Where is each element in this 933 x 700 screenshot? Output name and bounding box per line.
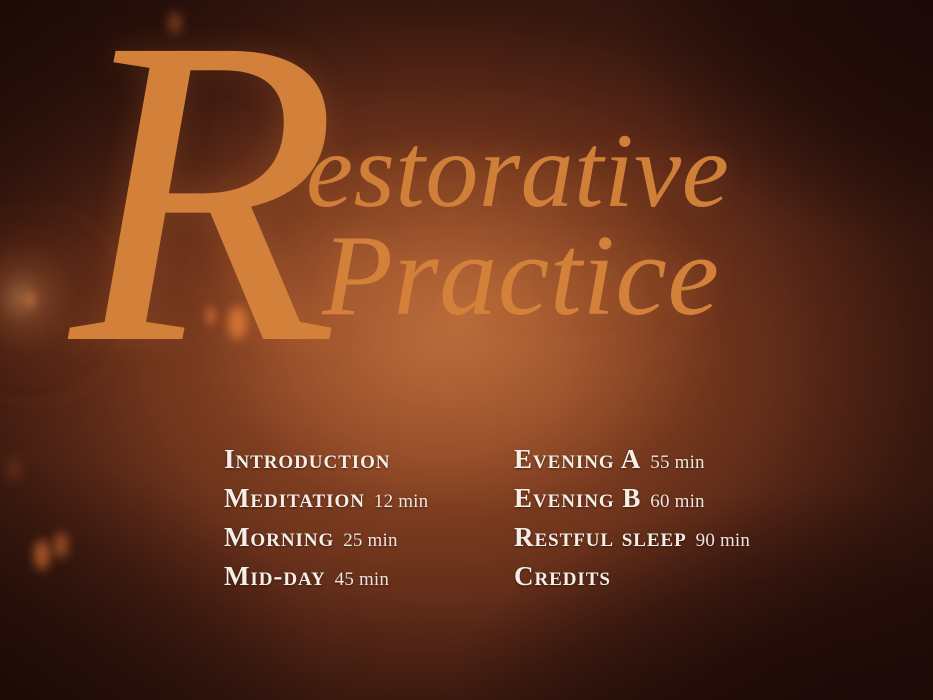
menu-item-label: Morning <box>224 524 334 551</box>
menu-item-label: Introduction <box>224 446 390 473</box>
menu-item-label: Credits <box>514 563 611 590</box>
menu-item-morning[interactable]: Morning25 min <box>224 524 454 563</box>
menu-item-restful-sleep[interactable]: Restful sleep90 min <box>514 524 814 563</box>
menu-item-duration: 12 min <box>374 492 428 511</box>
title-block: R estorative Practice <box>0 0 933 420</box>
menu-item-label: Mid-day <box>224 563 326 590</box>
menu-item-duration: 45 min <box>335 570 389 589</box>
menu-item-introduction[interactable]: Introduction <box>224 446 454 485</box>
menu-item-duration: 60 min <box>650 492 704 511</box>
title-line-first: estorative <box>306 118 729 224</box>
menu-item-meditation[interactable]: Meditation12 min <box>224 485 454 524</box>
lens-flare-glow <box>0 198 122 398</box>
title-swash-initial: R <box>70 0 330 412</box>
menu-item-label: Evening A <box>514 446 641 473</box>
menu-item-duration: 25 min <box>343 531 397 550</box>
chapter-menu: IntroductionMeditation12 minMorning25 mi… <box>224 446 844 602</box>
bokeh-left-mid <box>26 292 35 308</box>
menu-item-label: Meditation <box>224 485 365 512</box>
menu-item-evening-a[interactable]: Evening A55 min <box>514 446 814 485</box>
chapter-menu-column-right: Evening A55 minEvening B60 minRestful sl… <box>514 446 814 602</box>
menu-item-label: Evening B <box>514 485 641 512</box>
menu-item-duration: 55 min <box>650 453 704 472</box>
menu-item-mid-day[interactable]: Mid-day45 min <box>224 563 454 602</box>
bokeh-left-lower-b <box>54 532 68 558</box>
bokeh-left-lower-a <box>34 540 50 570</box>
bokeh-left-faint <box>8 458 20 480</box>
bokeh-r-tail-small <box>205 306 216 326</box>
menu-item-label: Restful sleep <box>514 524 687 551</box>
menu-item-evening-b[interactable]: Evening B60 min <box>514 485 814 524</box>
lens-flare-ring-outer <box>0 205 129 404</box>
bokeh-r-tail-large <box>228 306 247 340</box>
lens-flare-ring-inner <box>0 232 108 384</box>
title-line-second: Practice <box>322 218 720 334</box>
bokeh-top-left <box>168 12 182 34</box>
menu-item-duration: 90 min <box>696 531 750 550</box>
menu-item-credits[interactable]: Credits <box>514 563 814 602</box>
dvd-menu-screen: R estorative Practice IntroductionMedita… <box>0 0 933 700</box>
chapter-menu-column-left: IntroductionMeditation12 minMorning25 mi… <box>224 446 454 602</box>
